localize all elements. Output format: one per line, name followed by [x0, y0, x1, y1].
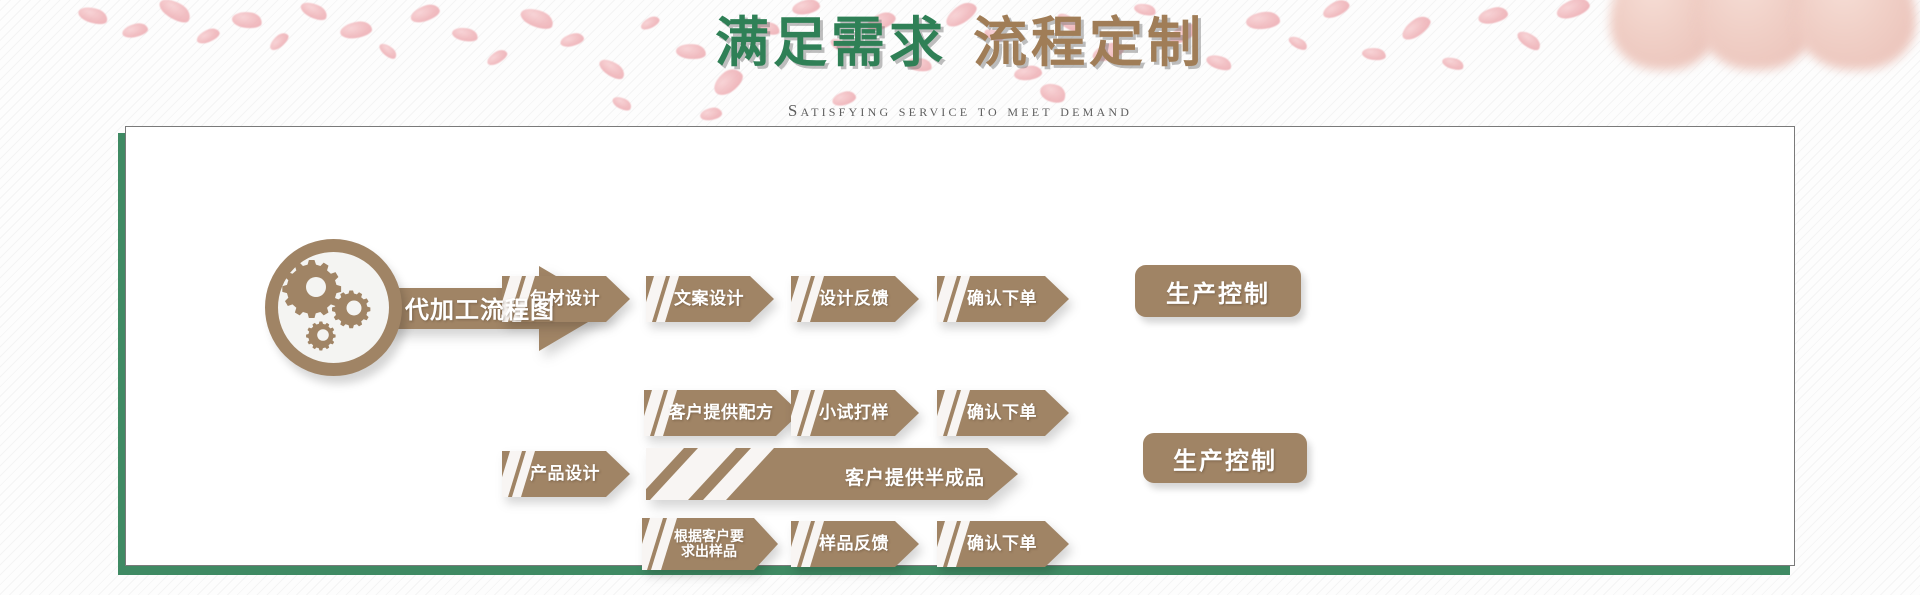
step-arrow-label: 确认下单 [937, 521, 1069, 567]
step-arrow: 样品反馈 [791, 521, 919, 567]
step-arrow-label: 产品设计 [502, 451, 630, 497]
page-title-brown: 流程定制 [973, 13, 1205, 73]
step-arrow-label: 确认下单 [937, 276, 1069, 322]
long-flow-arrow-label: 客户提供半成品 [845, 463, 985, 490]
step-arrow: 根据客户要 求出样品 [642, 518, 778, 570]
accent-bar-bottom [118, 566, 1790, 575]
step-arrow-label: 小试打样 [791, 390, 919, 436]
step-arrow: 确认下单 [937, 521, 1069, 567]
main-flow-arrow-label: 代加工流程图 [405, 290, 585, 325]
step-arrow: 产品设计 [502, 451, 630, 497]
step-arrow-label: 客户提供配方 [644, 390, 800, 436]
step-arrow: 设计反馈 [791, 276, 919, 322]
step-arrow-label: 设计反馈 [791, 276, 919, 322]
gears-icon-glyph [278, 252, 389, 363]
step-arrow-label: 文案设计 [646, 276, 774, 322]
step-arrow: 确认下单 [937, 390, 1069, 436]
page-title-green: 满足需求 [715, 13, 947, 73]
production-control-box: 生产控制 [1135, 265, 1301, 317]
production-control-box: 生产控制 [1143, 433, 1307, 483]
step-arrow: 确认下单 [937, 276, 1069, 322]
gears-icon [265, 239, 402, 376]
page-subtitle: Satisfying service to meet demand [0, 101, 1920, 121]
slide-canvas: 满足需求流程定制 Satisfying service to meet dema… [0, 0, 1920, 595]
step-arrow-label: 样品反馈 [791, 521, 919, 567]
step-arrow: 客户提供配方 [644, 390, 800, 436]
page-title: 满足需求流程定制 [0, 14, 1920, 73]
process-flow-diagram: 代加工流程图 包材设计 文案设计 设计反馈 [125, 126, 1795, 566]
step-arrow: 小试打样 [791, 390, 919, 436]
step-arrow-label: 根据客户要 求出样品 [642, 518, 778, 570]
step-arrow-label: 确认下单 [937, 390, 1069, 436]
step-arrow: 文案设计 [646, 276, 774, 322]
